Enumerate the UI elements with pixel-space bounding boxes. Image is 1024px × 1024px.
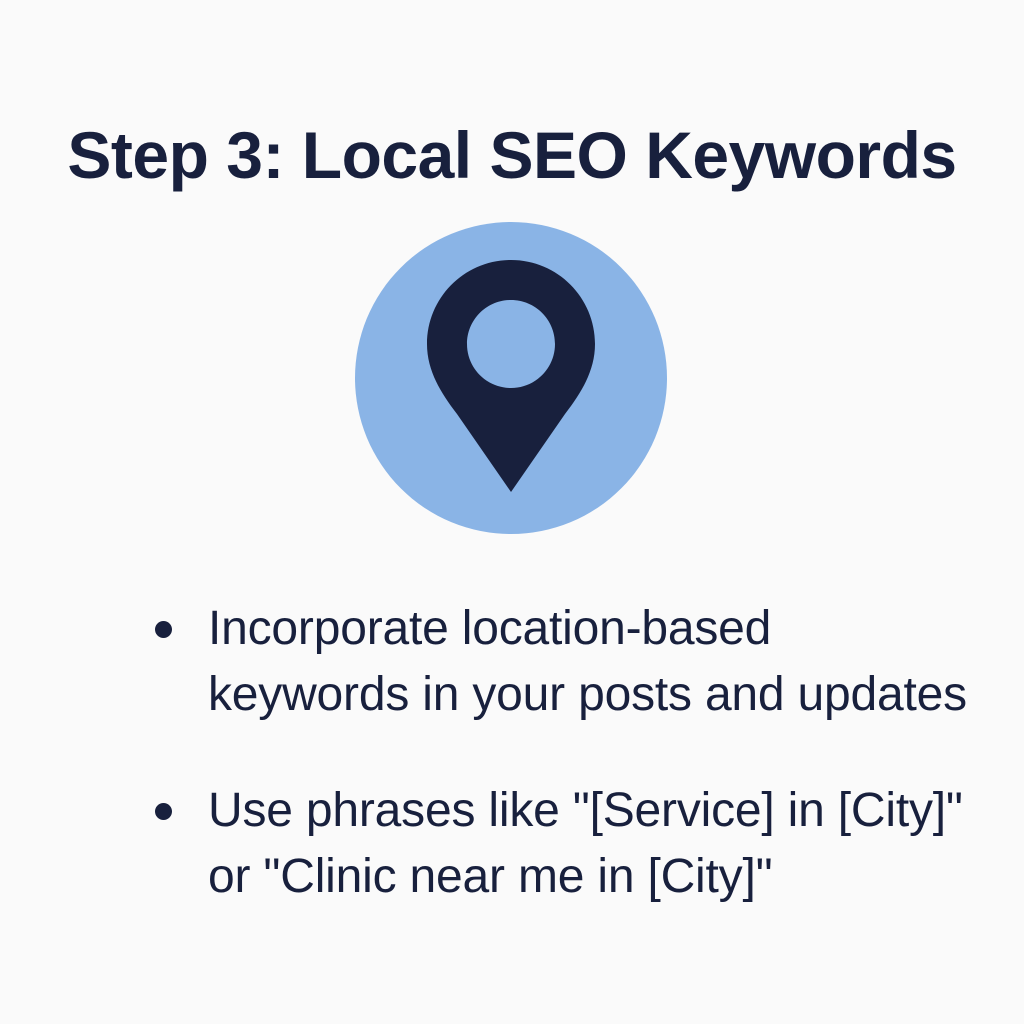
icon-block [355,222,667,534]
bullet-dot-icon [155,803,172,820]
list-item: Incorporate location-based keywords in y… [150,596,980,728]
bullet-text: Use phrases like "[Service] in [City]" o… [208,778,980,910]
slide-canvas: Step 3: Local SEO Keywords Incorporate l… [0,0,1024,1024]
bullet-text: Incorporate location-based keywords in y… [208,596,980,728]
list-item: Use phrases like "[Service] in [City]" o… [150,778,980,910]
bullet-dot-icon [155,621,172,638]
map-pin-icon [427,260,595,492]
bullet-list: Incorporate location-based keywords in y… [150,596,980,910]
page-title: Step 3: Local SEO Keywords [0,122,1024,188]
